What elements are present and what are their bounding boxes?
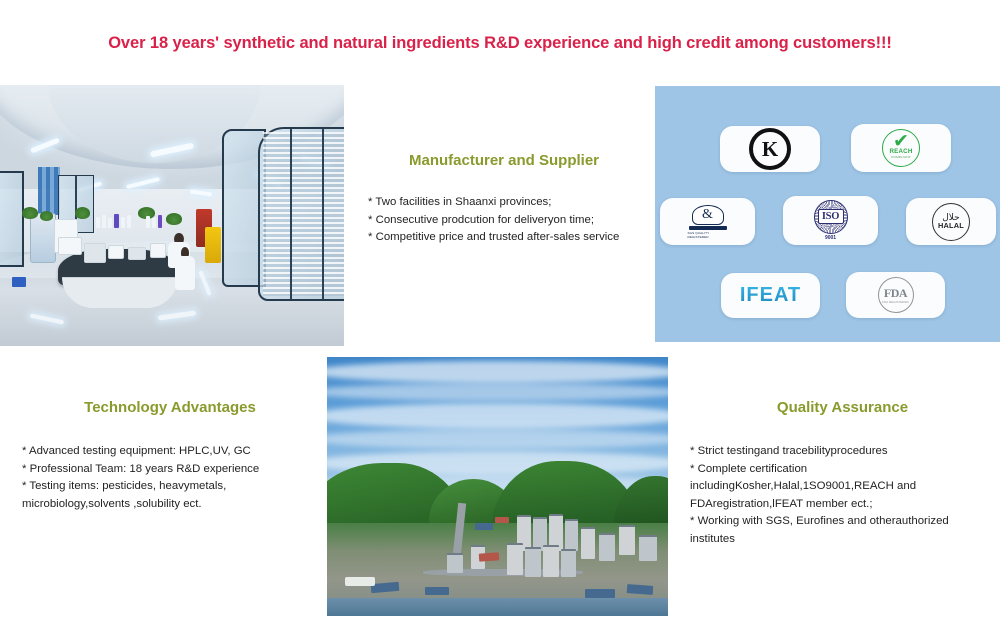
reagent-bottle <box>108 218 112 228</box>
bullet-line: * Advanced testing equipment: HPLC,UV, G… <box>22 443 318 461</box>
badge-sgs-label: & <box>702 208 713 222</box>
badge-reach-label: REACH <box>889 148 912 155</box>
lab-instrument <box>150 243 166 258</box>
potted-plant <box>75 207 90 219</box>
section-quality-body: * Strict testingand tracebilityprocedure… <box>690 443 995 548</box>
badge-iso-label: ISO <box>822 212 839 223</box>
certification-grid: K ✔ REACH COMPLIANT & SGS QUALITY REGIST… <box>655 86 1000 342</box>
lab-glass-partition-left <box>0 171 24 267</box>
technician-lab-coat <box>175 256 195 290</box>
lab-glass-booth <box>258 127 344 301</box>
sgs-banner <box>689 226 727 230</box>
section-quality: Quality Assurance * Strict testingand tr… <box>690 399 995 548</box>
reagent-bottle <box>152 218 156 228</box>
bullet-line: * Competitive price and trusted after-sa… <box>368 229 640 247</box>
iso-inner: ISO <box>818 209 844 224</box>
apartment-building <box>565 519 578 551</box>
fda-icon: FDA FDA REGISTERED <box>878 277 914 313</box>
white-tent <box>345 577 375 586</box>
reagent-bottle <box>127 215 131 228</box>
sgs-icon: & SGS QUALITY REGISTERED <box>688 205 728 239</box>
bullet-line: * Complete certification includingKosher… <box>690 461 995 514</box>
reagent-bottle <box>158 215 162 228</box>
badge-ifeat[interactable]: IFEAT <box>721 273 820 318</box>
badge-halal[interactable]: حلال HALAL <box>906 198 996 245</box>
apartment-building <box>525 547 541 577</box>
section-manufacturer-title: Manufacturer and Supplier <box>368 152 640 169</box>
slide-canvas: Over 18 years' synthetic and natural ing… <box>0 0 1000 641</box>
cloud <box>327 361 668 383</box>
blue-roof <box>585 589 615 598</box>
laboratory-panorama-image <box>0 85 344 346</box>
reagent-bottle <box>114 214 119 228</box>
certification-badges-panel: K ✔ REACH COMPLIANT & SGS QUALITY REGIST… <box>655 86 1000 342</box>
badge-kosher-label: K <box>762 139 778 160</box>
aerial-town-panorama-image <box>327 357 668 616</box>
apartment-building <box>507 543 523 575</box>
reagent-bottle <box>102 215 106 228</box>
bullet-line: * Professional Team: 18 years R&D experi… <box>22 461 318 479</box>
yellow-safety-cabinet <box>205 227 221 263</box>
badge-ifeat-label: IFEAT <box>740 284 801 307</box>
apartment-building <box>561 549 576 577</box>
bullet-line: * Two facilities in Shaanxi provinces; <box>368 194 640 212</box>
cloud <box>327 429 668 449</box>
apartment-building <box>581 527 595 559</box>
lab-technician <box>175 247 195 295</box>
lab-instrument <box>84 243 106 263</box>
blue-roof <box>627 584 654 595</box>
section-manufacturer: Manufacturer and Supplier * Two faciliti… <box>368 152 640 247</box>
kosher-k-icon: K <box>749 128 791 170</box>
badge-sgs[interactable]: & SGS QUALITY REGISTERED <box>660 198 755 245</box>
blue-box <box>12 277 26 287</box>
workbench-base <box>62 277 178 308</box>
reagent-bottle <box>121 217 125 228</box>
badge-kosher[interactable]: K <box>720 126 820 172</box>
lab-instrument <box>108 245 124 259</box>
blue-roof <box>475 523 493 530</box>
page-headline: Over 18 years' synthetic and natural ing… <box>0 34 1000 53</box>
iso-ring-icon: ISO <box>814 200 848 234</box>
potted-plant <box>40 211 53 221</box>
bullet-line-continued: microbiology,solvents ,solubility ect. <box>22 496 318 514</box>
apartment-building <box>599 533 615 561</box>
section-technology-title: Technology Advantages <box>22 399 318 416</box>
booth-blinds <box>263 132 344 296</box>
badge-iso[interactable]: ISO 9001 <box>783 196 878 245</box>
window-curtain <box>38 167 60 215</box>
apartment-building <box>639 535 657 561</box>
halal-arabic-script: حلال <box>942 213 959 221</box>
bullet-line: * Working with SGS, Eurofines and othera… <box>690 513 995 548</box>
lab-instrument <box>58 237 82 255</box>
badge-iso-sublabel: 9001 <box>825 235 836 241</box>
bullet-line: * Testing items: pesticides, heavymetals… <box>22 478 318 496</box>
section-quality-title: Quality Assurance <box>690 399 995 416</box>
reagent-bottle <box>146 216 150 228</box>
bullet-line: * Strict testingand tracebilityprocedure… <box>690 443 995 461</box>
sgs-ring-icon: & <box>692 205 724 225</box>
reach-icon: ✔ REACH COMPLIANT <box>882 129 920 167</box>
blue-roof <box>425 587 449 595</box>
red-roof <box>479 552 500 561</box>
checkmark-icon: ✔ <box>893 136 909 147</box>
potted-plant <box>22 207 38 219</box>
badge-halal-label: HALAL <box>938 221 964 230</box>
cloud <box>327 383 668 401</box>
bullet-line: * Consecutive prodcution for deliveryon … <box>368 212 640 230</box>
lab-instrument <box>128 247 146 260</box>
cloud <box>327 403 668 429</box>
badge-fda[interactable]: FDA FDA REGISTERED <box>846 272 945 318</box>
town-house <box>447 553 463 573</box>
halal-icon: حلال HALAL <box>932 203 970 241</box>
apartment-building <box>543 545 559 577</box>
reagent-bottle <box>96 217 100 228</box>
potted-plant <box>166 213 182 225</box>
badge-reach-sublabel: COMPLIANT <box>891 155 911 159</box>
section-technology-body: * Advanced testing equipment: HPLC,UV, G… <box>22 443 318 513</box>
iso-icon: ISO 9001 <box>814 200 848 242</box>
badge-fda-sublabel: FDA REGISTERED <box>882 300 909 304</box>
badge-fda-label: FDA <box>884 287 907 299</box>
badge-reach[interactable]: ✔ REACH COMPLIANT <box>851 124 951 172</box>
red-roof <box>495 517 509 523</box>
apartment-building <box>619 525 635 555</box>
section-technology: Technology Advantages * Advanced testing… <box>22 399 318 513</box>
section-manufacturer-body: * Two facilities in Shaanxi provinces; *… <box>368 194 640 247</box>
badge-sgs-sublabel: SGS QUALITY REGISTERED <box>688 231 728 239</box>
river <box>327 598 668 616</box>
